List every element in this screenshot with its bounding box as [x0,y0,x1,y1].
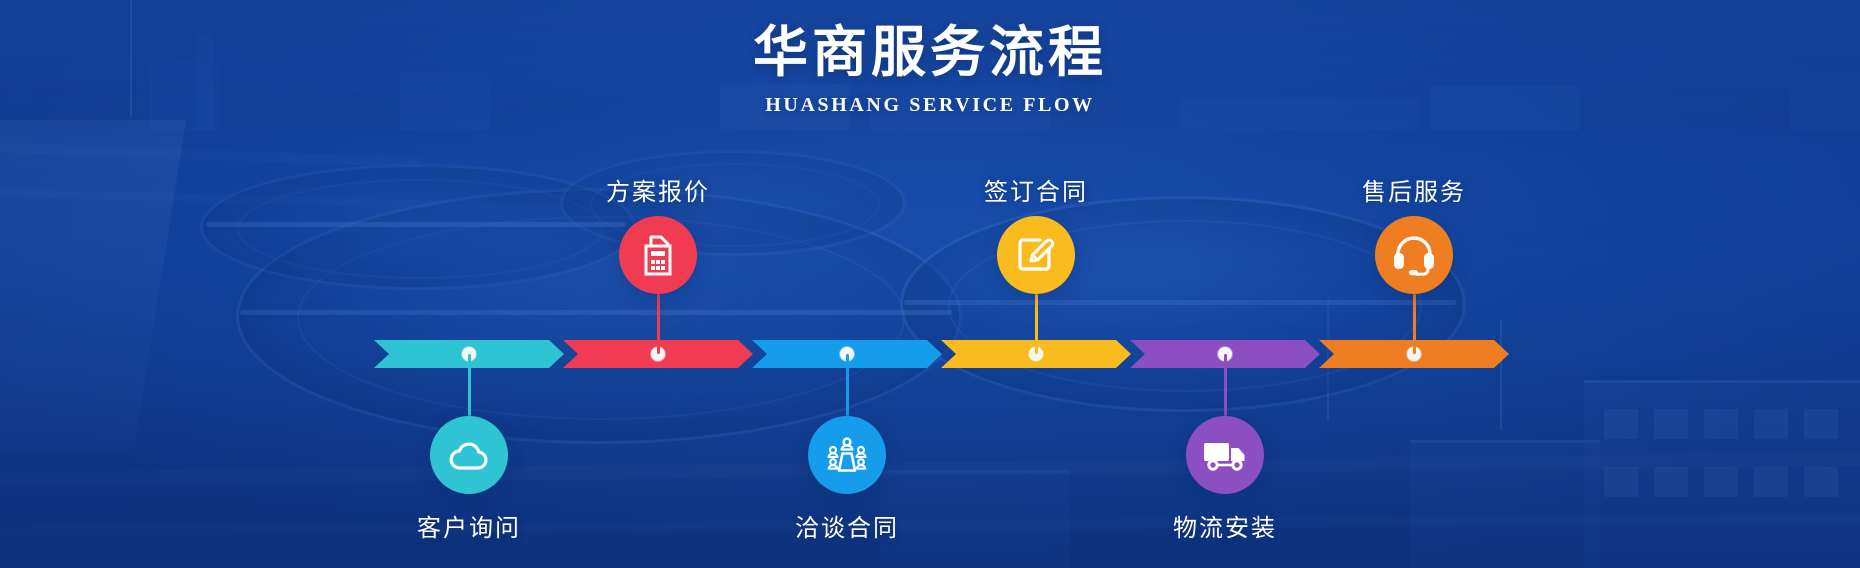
flow-step-bubble-3[interactable] [808,416,886,494]
pen-edit-icon [1015,234,1057,276]
banner-heading: 华商服务流程 HUASHANG SERVICE FLOW [0,0,1860,117]
headset-icon [1392,234,1436,276]
arrow-chain [374,340,1508,368]
page-title: 华商服务流程 [0,0,1860,85]
flow-step-bubble-4[interactable] [997,216,1075,294]
flow-step-bubble-6[interactable] [1375,216,1453,294]
calculator-icon [639,234,677,276]
flow-connector-2 [657,294,660,354]
flow-connector-4 [1035,294,1038,354]
flow-connector-1 [468,354,471,416]
flow-step-bubble-5[interactable] [1186,416,1264,494]
flow-step-label-3: 洽谈合同 [795,508,899,543]
flow-step-label-2: 方案报价 [606,172,710,207]
flow-connector-6 [1413,294,1416,354]
page-subtitle: HUASHANG SERVICE FLOW [0,94,1860,117]
flow-step-bubble-2[interactable] [619,216,697,294]
meeting-table-icon [826,435,868,475]
flow-step-label-4: 签订合同 [984,172,1088,207]
flow-step-bubble-1[interactable] [430,416,508,494]
flow-step-label-5: 物流安装 [1173,508,1277,543]
service-flow-banner: 华商服务流程 HUASHANG SERVICE FLOW 客户询问方案报价洽谈合… [0,0,1860,568]
flow-connector-5 [1224,354,1227,416]
flow-step-label-1: 客户询问 [417,508,521,543]
flow-step-label-6: 售后服务 [1362,172,1466,207]
delivery-truck-icon [1202,438,1248,472]
flow-connector-3 [846,354,849,416]
cloud-icon [449,438,489,472]
